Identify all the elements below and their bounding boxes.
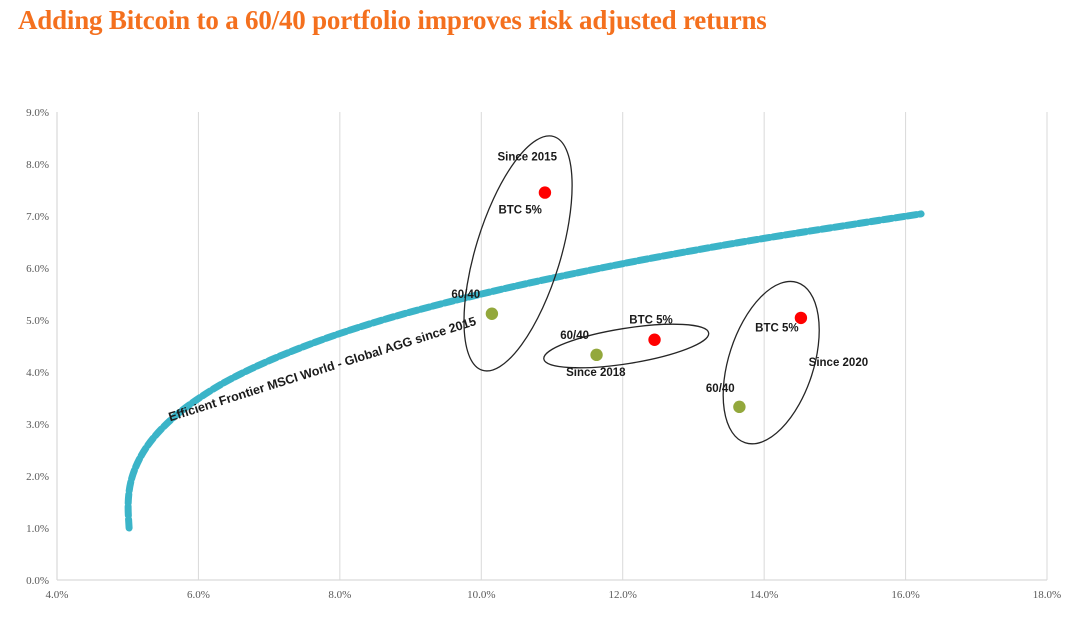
data-point-sixty-forty[interactable] (590, 349, 602, 361)
efficient-frontier-label: Efficient Frontier MSCI World - Global A… (167, 314, 478, 424)
annotation-label: BTC 5% (755, 322, 798, 334)
y-axis-tick-label: 4.0% (26, 367, 49, 379)
x-axis-tick-labels: 4.0%6.0%8.0%10.0%12.0%14.0%16.0%18.0% (46, 589, 1062, 601)
data-point-sixty-forty[interactable] (486, 308, 498, 320)
y-axis-tick-label: 5.0% (26, 315, 49, 327)
efficient-frontier-line (128, 214, 921, 528)
y-axis-tick-label: 2.0% (26, 471, 49, 483)
data-point-btc-5[interactable] (539, 186, 551, 198)
y-axis-tick-label: 9.0% (26, 107, 49, 119)
annotation-label: Since 2020 (809, 357, 868, 369)
annotation-label: 60/40 (451, 289, 480, 301)
slide-canvas: Adding Bitcoin to a 60/40 portfolio impr… (0, 0, 1075, 634)
efficient-frontier-curve (128, 214, 921, 528)
y-axis-tick-label: 1.0% (26, 523, 49, 535)
y-axis-tick-label: 0.0% (26, 575, 49, 587)
annotation-label: BTC 5% (498, 204, 541, 216)
efficient-frontier-chart: 0.0%1.0%2.0%3.0%4.0%5.0%6.0%7.0%8.0%9.0%… (0, 90, 1075, 610)
x-axis-tick-label: 14.0% (750, 589, 778, 601)
y-axis-tick-label: 7.0% (26, 211, 49, 223)
data-point-sixty-forty[interactable] (733, 401, 745, 413)
gridlines (198, 112, 1047, 580)
chart-svg: 0.0%1.0%2.0%3.0%4.0%5.0%6.0%7.0%8.0%9.0%… (0, 90, 1075, 610)
annotation-label: Since 2018 (566, 367, 626, 379)
x-axis-tick-label: 10.0% (467, 589, 495, 601)
x-axis-tick-label: 16.0% (891, 589, 919, 601)
x-axis-tick-label: 4.0% (46, 589, 69, 601)
y-axis-tick-labels: 0.0%1.0%2.0%3.0%4.0%5.0%6.0%7.0%8.0%9.0% (26, 107, 49, 587)
x-axis-tick-label: 18.0% (1033, 589, 1061, 601)
annotation-label: 60/40 (560, 330, 589, 342)
axis-lines (57, 112, 1047, 580)
page-title: Adding Bitcoin to a 60/40 portfolio impr… (18, 5, 1038, 36)
annotation-label: BTC 5% (629, 315, 672, 327)
y-axis-tick-label: 6.0% (26, 263, 49, 275)
data-point-btc-5[interactable] (648, 334, 660, 346)
x-axis-tick-label: 6.0% (187, 589, 210, 601)
x-axis-tick-label: 8.0% (328, 589, 351, 601)
annotation-label: 60/40 (706, 383, 735, 395)
y-axis-tick-label: 8.0% (26, 159, 49, 171)
x-axis-tick-label: 12.0% (609, 589, 637, 601)
point-annotations: Since 2015BTC 5%60/4060/40BTC 5%Since 20… (451, 151, 868, 394)
y-axis-tick-label: 3.0% (26, 419, 49, 431)
annotation-label: Since 2015 (498, 151, 558, 163)
efficient-frontier-text: Efficient Frontier MSCI World - Global A… (167, 314, 478, 424)
